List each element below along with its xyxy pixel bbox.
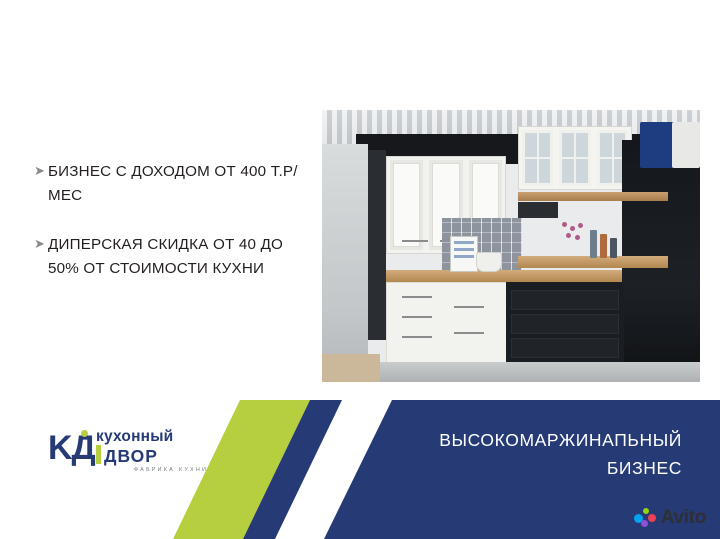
photo-drawer-handle <box>402 296 432 298</box>
kitchen-photo <box>322 110 700 382</box>
photo-drawer-handle <box>454 332 484 334</box>
photo-pot <box>476 252 502 272</box>
logo-green-dot-icon <box>81 430 88 437</box>
photo-wood-shelf <box>518 192 668 201</box>
logo-word-primary: кухонный <box>96 428 173 446</box>
bullet-arrow-icon: ➤ <box>34 237 48 250</box>
avito-watermark: Avito <box>634 507 706 529</box>
photo-range-hood <box>518 202 558 218</box>
list-item: ➤ БИЗНЕС С ДОХОДОМ ОТ 400 Т.Р/МЕС <box>34 160 314 207</box>
list-item: ➤ ДИПЕРСКАЯ СКИДКА ОТ 40 ДО 50% ОТ СТОИМ… <box>34 233 314 280</box>
photo-left-room <box>322 144 368 382</box>
photo-drawer-handle <box>454 306 484 308</box>
photo-cabinet-handle <box>402 240 428 242</box>
photo-wood-countertop <box>386 270 622 282</box>
photo-drawer-handle <box>402 336 432 338</box>
presentation-slide: ➤ БИЗНЕС С ДОХОДОМ ОТ 400 Т.Р/МЕС ➤ ДИПЕ… <box>0 0 720 539</box>
photo-bottle <box>590 230 597 258</box>
bullet-list: ➤ БИЗНЕС С ДОХОДОМ ОТ 400 Т.Р/МЕС ➤ ДИПЕ… <box>34 160 314 306</box>
photo-left-dark-panel <box>368 150 386 340</box>
photo-price-card <box>450 236 478 272</box>
logo-word-secondary: ДВОР <box>104 446 158 467</box>
avito-wordmark: Avito <box>661 507 706 529</box>
photo-bottle <box>600 234 607 258</box>
band-title: ВЫСОКОМАРЖИНАПЬНЫЙ БИЗНЕС <box>382 426 682 482</box>
brand-logo: KД кухонный ДВОР ФАБРИКА КУХНИ <box>48 424 220 480</box>
photo-dark-base-cabinets <box>506 282 624 368</box>
avito-logo-icon <box>634 508 656 528</box>
photo-drawer-handle <box>402 316 432 318</box>
photo-floor-tile-corner <box>322 354 380 382</box>
photo-white-banner <box>672 122 700 168</box>
photo-glass-upper-cabinets <box>518 126 632 190</box>
photo-bottle <box>610 238 617 258</box>
bullet-text: БИЗНЕС С ДОХОДОМ ОТ 400 Т.Р/МЕС <box>48 160 314 207</box>
photo-flower-vase <box>560 222 586 258</box>
logo-subtitle: ФАБРИКА КУХНИ <box>134 467 208 473</box>
bullet-text: ДИПЕРСКАЯ СКИДКА ОТ 40 ДО 50% ОТ СТОИМОС… <box>48 233 314 280</box>
bullet-arrow-icon: ➤ <box>34 164 48 177</box>
logo-green-bar-icon <box>96 445 101 464</box>
